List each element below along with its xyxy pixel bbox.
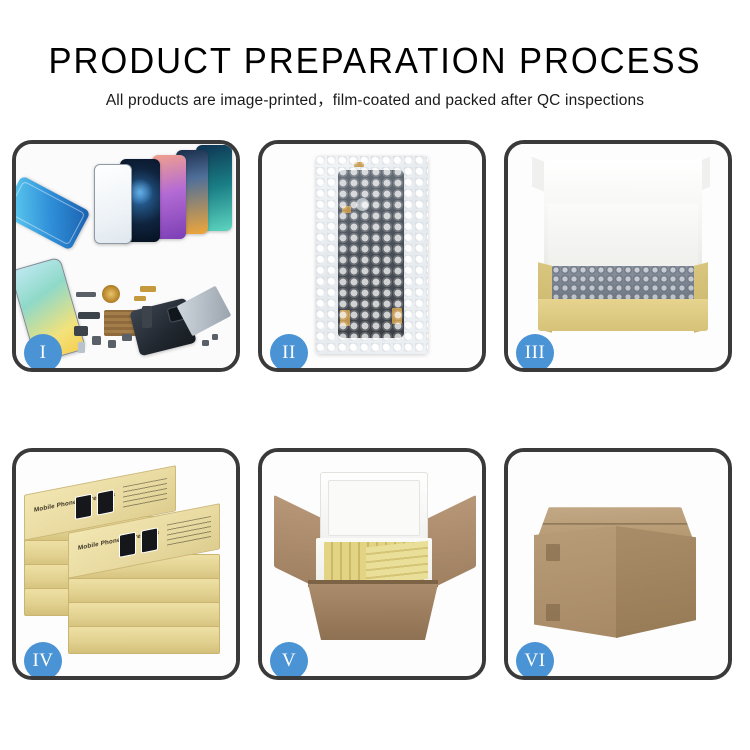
part-gold-contact-icon bbox=[134, 296, 146, 301]
carton-tape-icon bbox=[546, 544, 560, 561]
tape-strip-icon bbox=[342, 206, 351, 213]
box-phone-thumbnail bbox=[119, 532, 136, 558]
bubble-wrapped-contents bbox=[552, 266, 694, 302]
part-chip-icon bbox=[78, 342, 85, 353]
foam-liner bbox=[548, 204, 698, 268]
process-step-panel-5[interactable]: V bbox=[258, 448, 486, 680]
foam-box-lid bbox=[320, 472, 428, 544]
carton-left-face bbox=[534, 526, 618, 638]
part-gold-contact-icon bbox=[140, 286, 156, 292]
screen-protector-icon bbox=[94, 164, 132, 244]
process-step-panel-3[interactable]: III bbox=[504, 140, 732, 372]
step-badge-6: VI bbox=[516, 642, 554, 680]
bubble-wrap-bag bbox=[316, 156, 428, 354]
packed-yellow-boxes bbox=[366, 541, 428, 586]
box-stack: Mobile Phone Spare Parts Mobile Phone Sp… bbox=[24, 472, 236, 662]
part-screw-icon bbox=[212, 334, 218, 340]
process-step-panel-1[interactable]: I bbox=[12, 140, 240, 372]
step-badge-3: III bbox=[516, 334, 554, 372]
box-phone-thumbnail bbox=[97, 489, 114, 515]
step-badge-2: II bbox=[270, 334, 308, 372]
process-step-panel-2[interactable]: II bbox=[258, 140, 486, 372]
part-chip-icon bbox=[92, 336, 101, 345]
tape-strip-icon bbox=[340, 310, 350, 326]
page-header: PRODUCT PREPARATION PROCESS All products… bbox=[0, 0, 750, 130]
carton-right-face bbox=[616, 526, 696, 638]
tape-strip-icon bbox=[354, 162, 364, 167]
flex-cable-icon bbox=[78, 312, 100, 319]
process-step-panel-6[interactable]: VI bbox=[504, 448, 732, 680]
page-title: PRODUCT PREPARATION PROCESS bbox=[15, 40, 735, 82]
part-chip-icon bbox=[122, 334, 132, 341]
carton-seam bbox=[542, 523, 687, 525]
stacked-box bbox=[68, 626, 220, 654]
carton-front-panel bbox=[308, 584, 438, 640]
process-step-panel-4[interactable]: Mobile Phone Spare Parts Mobile Phone Sp… bbox=[12, 448, 240, 680]
process-steps-grid: I II III bbox=[12, 140, 738, 692]
flex-cable-icon bbox=[74, 326, 88, 336]
part-chip-icon bbox=[76, 292, 96, 297]
box-phone-thumbnail bbox=[75, 494, 92, 520]
tape-strip-icon bbox=[392, 308, 402, 324]
speaker-coil-icon bbox=[102, 285, 120, 303]
flex-cable-icon bbox=[142, 306, 152, 328]
part-chip-icon bbox=[108, 340, 116, 348]
box-spec-lines bbox=[123, 478, 167, 511]
part-screw-icon bbox=[202, 340, 209, 346]
box-spec-lines bbox=[167, 516, 211, 549]
carton-tape-icon bbox=[546, 604, 560, 621]
step-badge-5: V bbox=[270, 642, 308, 680]
step-badge-1: I bbox=[24, 334, 62, 372]
phone-blue-icon bbox=[12, 175, 91, 250]
page-subtitle: All products are image-printed，film-coat… bbox=[0, 88, 750, 110]
step-badge-4: IV bbox=[24, 642, 62, 680]
box-phone-thumbnail bbox=[141, 527, 158, 553]
box-front-panel bbox=[538, 299, 708, 331]
